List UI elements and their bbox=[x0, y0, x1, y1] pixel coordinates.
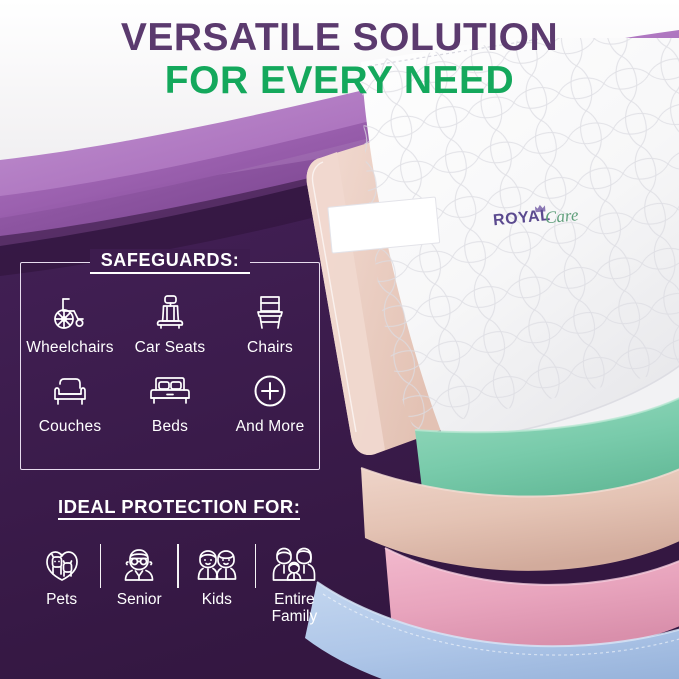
safeguard-label: Chairs bbox=[247, 339, 293, 357]
safeguard-item-wheelchairs: Wheelchairs bbox=[20, 288, 120, 357]
safeguards-grid: Wheelchairs Car Seats bbox=[20, 288, 320, 436]
ideal-protection-section: IDEAL PROTECTION FOR: bbox=[18, 495, 338, 625]
safeguards-panel: SAFEGUARDS: Wheelchairs bbox=[20, 262, 320, 470]
ideal-protection-row: Pets bbox=[18, 542, 338, 625]
kids-icon bbox=[195, 542, 239, 588]
protection-item-pets: Pets bbox=[25, 542, 99, 608]
safeguards-title-wrap: SAFEGUARDS: bbox=[20, 249, 320, 274]
protection-label: Senior bbox=[117, 592, 162, 608]
senior-icon bbox=[119, 542, 159, 588]
safeguard-item-couches: Couches bbox=[20, 367, 120, 436]
safeguard-item-car-seats: Car Seats bbox=[120, 288, 220, 357]
brand-primary-text: ROYAL bbox=[492, 207, 551, 230]
chair-icon bbox=[249, 288, 291, 336]
plus-circle-icon bbox=[249, 367, 291, 415]
protection-label: Pets bbox=[46, 592, 77, 608]
couch-icon bbox=[49, 367, 91, 415]
brand-secondary-text: Care bbox=[544, 205, 579, 228]
bed-icon bbox=[148, 367, 192, 415]
divider bbox=[100, 544, 102, 588]
safeguard-label: And More bbox=[236, 418, 305, 436]
pets-icon bbox=[42, 542, 82, 588]
protection-label-line-2: Family bbox=[272, 608, 318, 625]
safeguard-label: Couches bbox=[39, 418, 102, 436]
safeguard-item-chairs: Chairs bbox=[220, 288, 320, 357]
safeguard-item-and-more: And More bbox=[220, 367, 320, 436]
ideal-protection-title: IDEAL PROTECTION FOR: bbox=[58, 495, 300, 520]
safeguard-label: Car Seats bbox=[135, 339, 206, 357]
wheelchair-icon bbox=[49, 288, 91, 336]
protection-label: Entire Family bbox=[272, 592, 318, 625]
protection-item-entire-family: Entire Family bbox=[257, 542, 331, 625]
protection-item-kids: Kids bbox=[180, 542, 254, 608]
divider bbox=[177, 544, 179, 588]
protection-label-line-1: Entire bbox=[274, 591, 315, 608]
safeguard-label: Beds bbox=[152, 418, 188, 436]
car-seat-icon bbox=[149, 288, 191, 336]
divider bbox=[255, 544, 257, 588]
protection-label: Kids bbox=[202, 592, 232, 608]
family-icon bbox=[271, 542, 317, 588]
safeguard-label: Wheelchairs bbox=[26, 339, 113, 357]
safeguards-title: SAFEGUARDS: bbox=[90, 249, 251, 274]
protection-item-senior: Senior bbox=[102, 542, 176, 608]
promo-image: VERSATILE SOLUTION FOR EVERY NEED bbox=[0, 0, 679, 679]
safeguard-item-beds: Beds bbox=[120, 367, 220, 436]
